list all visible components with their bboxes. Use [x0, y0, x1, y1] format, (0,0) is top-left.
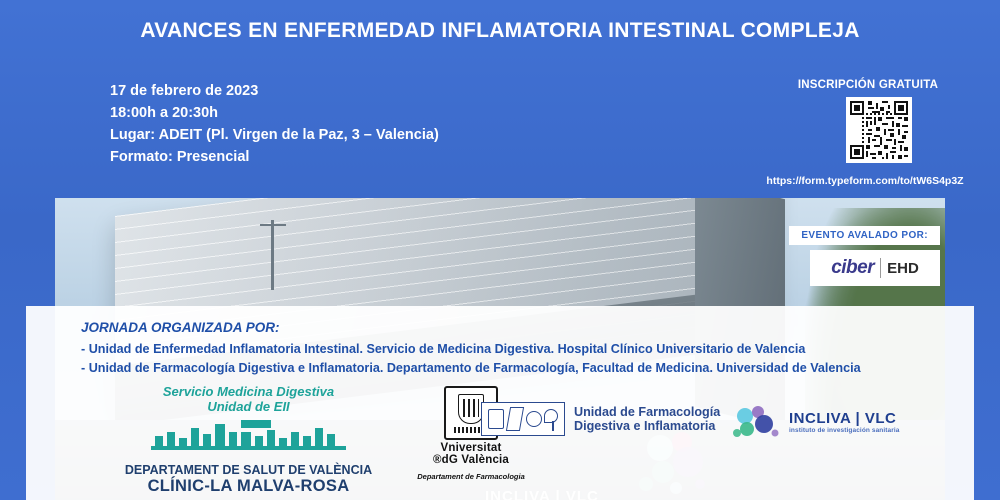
endorsement-label: EVENTO AVALADO POR:	[789, 226, 940, 245]
qr-code-icon	[850, 101, 908, 159]
farmacologia-line1: Unidad de Farmacología	[574, 405, 720, 419]
endorsement-logo: ciber EHD	[810, 250, 940, 286]
page-title: AVANCES EN ENFERMEDAD INFLAMATORIA INTES…	[0, 18, 1000, 44]
event-place: Lugar: ADEIT (Pl. Virgen de la Paz, 3 – …	[110, 124, 439, 146]
logo-unidad-farmacologia: Unidad de Farmacología Digestiva e Infla…	[481, 402, 720, 436]
servicio-label: Servicio Medicina Digestiva	[116, 384, 381, 399]
incliva-logo-icon	[731, 402, 781, 442]
universitat-line2: ®dG València	[401, 454, 541, 466]
departament-salut-label: DEPARTAMENT DE SALUT DE VALÈNCIA	[116, 463, 381, 477]
logo-incliva: INCLIVA | VLC instituto de investigación…	[731, 402, 900, 442]
incliva-tagline: instituto de investigación sanitaria	[789, 427, 900, 434]
farmacologia-mark-icon	[481, 402, 565, 436]
antenna-mast	[271, 220, 274, 290]
ehd-logo-text: EHD	[887, 260, 919, 277]
universitat-line1: Vniversitat	[401, 442, 541, 454]
qr-code[interactable]	[846, 97, 912, 163]
incliva-wordmark: INCLIVA | VLC	[789, 410, 900, 427]
event-details: 17 de febrero de 2023 18:00h a 20:30h Lu…	[110, 80, 439, 168]
unidad-eii-label: Unidad de EII	[116, 399, 381, 414]
registration-url[interactable]: https://form.typeform.com/to/tW6S4p3Z	[750, 175, 980, 187]
antenna-arm	[260, 224, 286, 226]
organizers-list: - Unidad de Enfermedad Inflamatoria Inte…	[81, 340, 861, 378]
organizer-line: - Unidad de Enfermedad Inflamatoria Inte…	[81, 340, 861, 359]
farmacologia-line2: Digestiva e Inflamatoria	[574, 419, 720, 433]
logo-departament-salut: Servicio Medicina Digestiva Unidad de EI…	[116, 384, 381, 496]
clinic-malvarosa-label: CLÍNIC-LA MALVA-ROSA	[116, 477, 381, 496]
salut-graphic-icon	[151, 420, 346, 460]
organizers-title: JORNADA ORGANIZADA POR:	[81, 320, 280, 335]
departament-farmacologia-label: Departament de Farmacologia	[401, 472, 541, 481]
organizers-panel: JORNADA ORGANIZADA POR: - Unidad de Enfe…	[26, 306, 974, 500]
event-time: 18:00h a 20:30h	[110, 102, 439, 124]
logo-row: Servicio Medicina Digestiva Unidad de EI…	[81, 384, 961, 496]
registration-label: INSCRIPCIÓN GRATUITA	[768, 79, 968, 91]
event-poster: AVANCES EN ENFERMEDAD INFLAMATORIA INTES…	[0, 0, 1000, 500]
divider	[880, 258, 881, 278]
ciber-logo-text: ciber	[831, 257, 874, 279]
event-format: Formato: Presencial	[110, 146, 439, 168]
organizer-line: - Unidad de Farmacología Digestiva e Inf…	[81, 359, 861, 378]
event-date: 17 de febrero de 2023	[110, 80, 439, 102]
